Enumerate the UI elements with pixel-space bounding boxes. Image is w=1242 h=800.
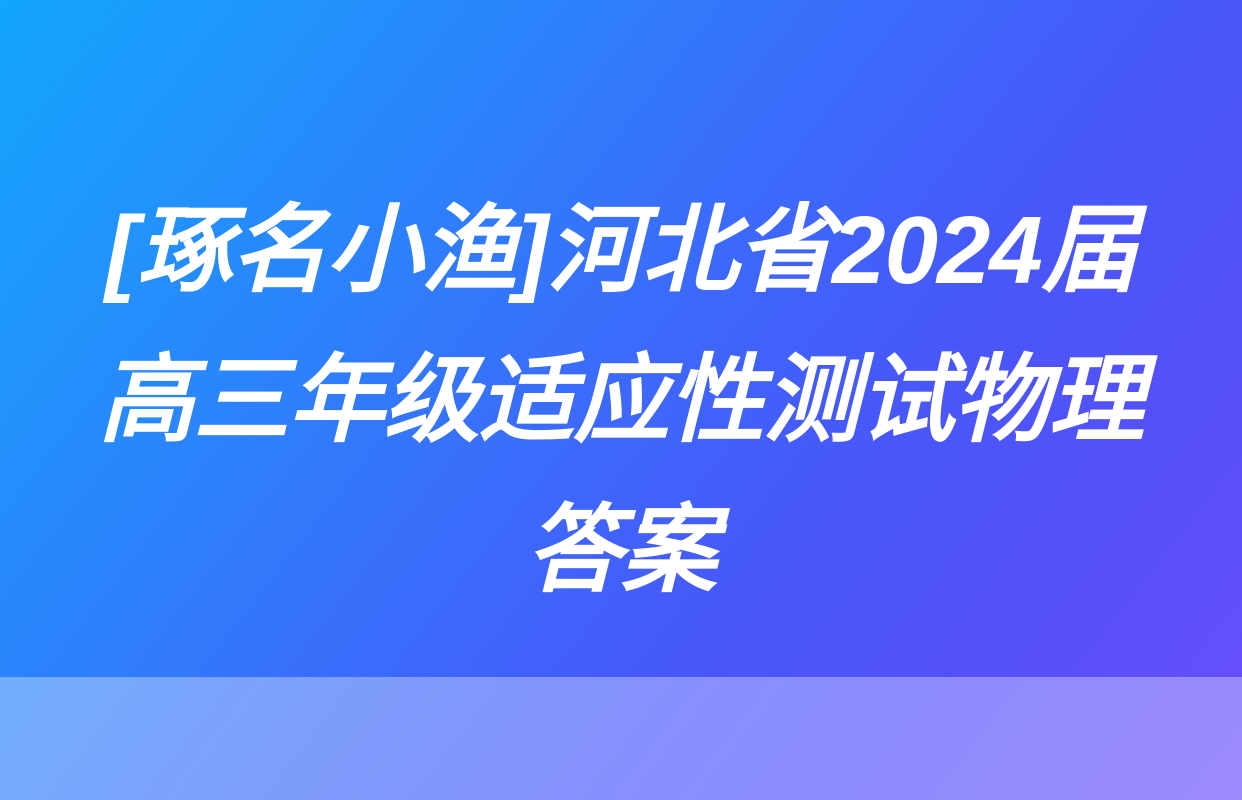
watermark-band: 答案解析网APP xyxy=(0,677,1242,800)
poster-canvas: [琢名小渔]河北省2024届高三年级适应性测试物理答案 答案解析网APP xyxy=(0,0,1242,800)
page-title: [琢名小渔]河北省2024届高三年级适应性测试物理答案 xyxy=(0,176,1242,626)
